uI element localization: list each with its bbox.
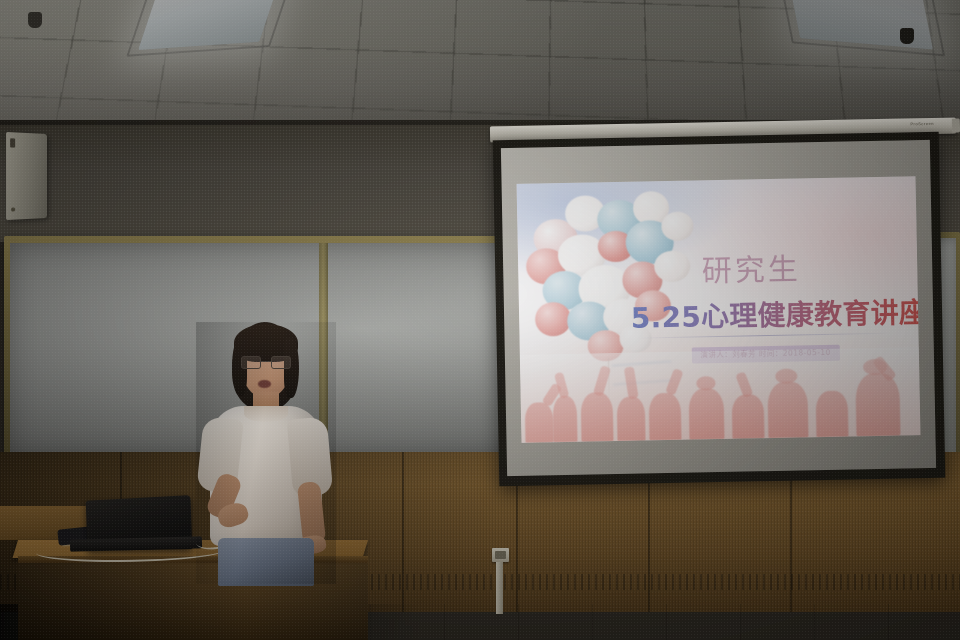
presenter-mouth — [258, 380, 271, 388]
presenter-jeans — [218, 538, 314, 586]
presenter — [196, 322, 336, 584]
air-conditioner-unit — [6, 132, 47, 220]
projector-screen-surface: 研究生 5.25心理健康教育讲座 演讲人：刘春芳 时间：2018-05-10 — [501, 140, 936, 476]
presenter-collar — [244, 406, 288, 422]
wall-outlet[interactable] — [492, 548, 509, 562]
ceiling — [0, 0, 960, 124]
screen-brand-logo: ProScreen — [910, 121, 934, 126]
slide-silhouette-group — [520, 347, 921, 443]
silhouette-haze — [520, 347, 921, 443]
slide-heading: 研究生 — [701, 245, 801, 291]
outlet-socket-face — [495, 551, 506, 559]
ac-indicator-dot — [11, 207, 15, 211]
ceiling-shading — [0, 0, 960, 124]
glasses-lens-left — [241, 356, 261, 369]
projector-screen-frame: 研究生 5.25心理健康教育讲座 演讲人：刘春芳 时间：2018-05-10 — [493, 132, 946, 486]
lecture-hall-photo: ProScreen — [0, 0, 960, 640]
glasses-bridge — [261, 361, 271, 362]
glasses-icon — [241, 356, 291, 369]
ac-vent-slot — [10, 138, 15, 147]
projected-slide: 研究生 5.25心理健康教育讲座 演讲人：刘春芳 时间：2018-05-10 — [517, 176, 921, 443]
screen-housing-endcap — [952, 118, 960, 132]
glasses-lens-right — [271, 356, 291, 369]
slide-title: 5.25心理健康教育讲座 — [630, 291, 920, 337]
